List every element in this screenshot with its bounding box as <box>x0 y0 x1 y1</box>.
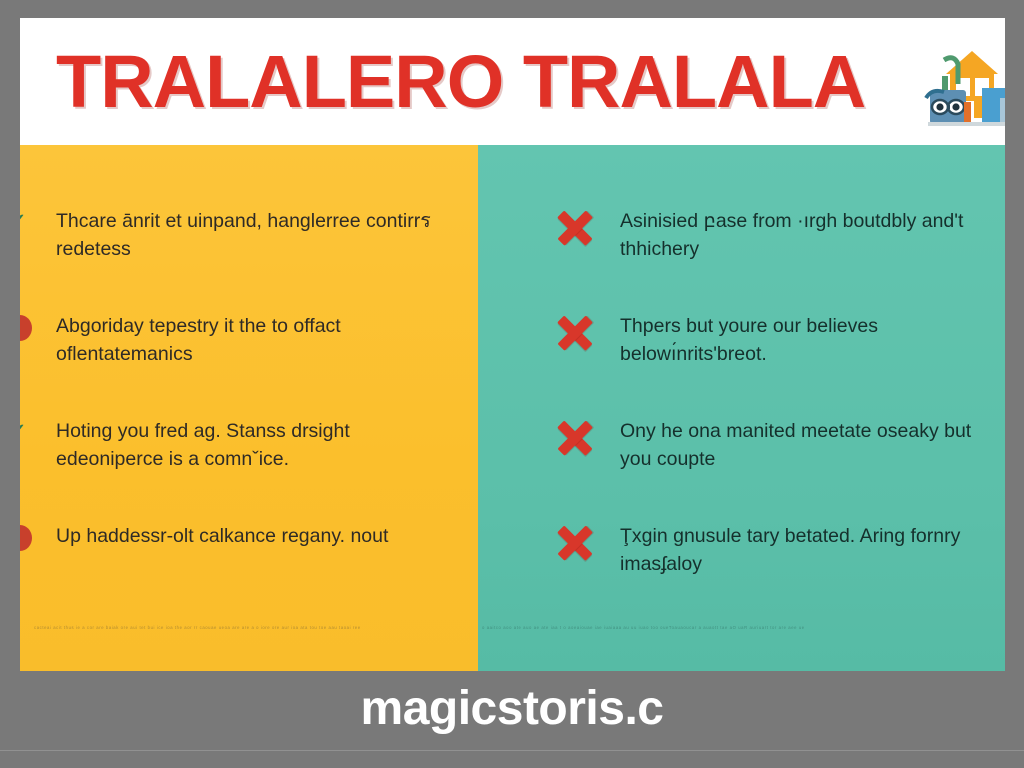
list-item[interactable]: ✓ Thcare ānrit et uinpand, hanglerree co… <box>20 207 478 312</box>
slide-frame: TRALALERO TRALALA <box>0 0 1024 768</box>
list-item-label: Asinisied բase from ·ırgh boutdbly and't… <box>620 207 995 263</box>
close-icon <box>556 314 594 352</box>
dot-icon <box>20 524 36 554</box>
cons-list: Asinisied բase from ·ırgh boutdbly and't… <box>478 207 1005 627</box>
close-icon <box>556 419 594 457</box>
check-icon: ✓ <box>20 209 36 239</box>
list-item[interactable]: Abgoriday tepestry it the to offact ofle… <box>20 312 478 417</box>
site-url[interactable]: magicstoris.c <box>0 678 1024 740</box>
close-icon <box>556 209 594 247</box>
check-icon: ✓ <box>20 419 36 449</box>
pros-panel: ✓ Thcare ānrit et uinpand, hanglerree co… <box>20 145 478 671</box>
page-title: TRALALERO TRALALA <box>56 38 865 126</box>
list-item[interactable]: Up haddessr-olt calkance regany. nout <box>20 522 478 627</box>
list-item-label: Abgoriday tepestry it the to offact ofle… <box>56 312 446 368</box>
infographic-card: TRALALERO TRALALA <box>20 18 1005 671</box>
header-band: TRALALERO TRALALA <box>20 18 1005 145</box>
fine-print: o aaitco aoo ate auo ae ate iaa t o aoea… <box>482 623 1001 633</box>
pros-list: ✓ Thcare ānrit et uinpand, hanglerree co… <box>20 207 478 627</box>
list-item[interactable]: Ony he ona manited meetate oseaky but yo… <box>478 417 1005 522</box>
footer-divider <box>0 750 1024 751</box>
list-item[interactable]: Ţxgin gnusule tary betated. Aring fornry… <box>478 522 1005 627</box>
list-item[interactable]: Thpers but youre our believes belowı́nri… <box>478 312 1005 417</box>
dot-icon <box>20 314 36 344</box>
fine-print: cacteai acit thus ie a cor are baiak ore… <box>34 623 474 633</box>
list-item-label: Ţxgin gnusule tary betated. Aring fornry… <box>620 522 995 578</box>
cons-panel: Asinisied բase from ·ırgh boutdbly and't… <box>478 145 1005 671</box>
footer-bar: magicstoris.c <box>0 671 1024 768</box>
list-item[interactable]: ✓ Hoting you fred ag. Stanss drsight ede… <box>20 417 478 522</box>
list-item-label: Thpers but youre our believes belowı́nri… <box>620 312 995 368</box>
list-item-label: Thcare ānrit et uinpand, hanglerree cont… <box>56 207 446 263</box>
close-icon <box>556 524 594 562</box>
comparison-panels: ✓ Thcare ānrit et uinpand, hanglerree co… <box>20 145 1005 671</box>
list-item-label: Ony he ona manited meetate oseaky but yo… <box>620 417 995 473</box>
robot-house-illustration-icon <box>920 46 1005 142</box>
list-item-label: Hoting you fred ag. Stanss drsight edeon… <box>56 417 446 473</box>
list-item-label: Up haddessr-olt calkance regany. nout <box>56 522 446 550</box>
list-item[interactable]: Asinisied բase from ·ırgh boutdbly and't… <box>478 207 1005 312</box>
